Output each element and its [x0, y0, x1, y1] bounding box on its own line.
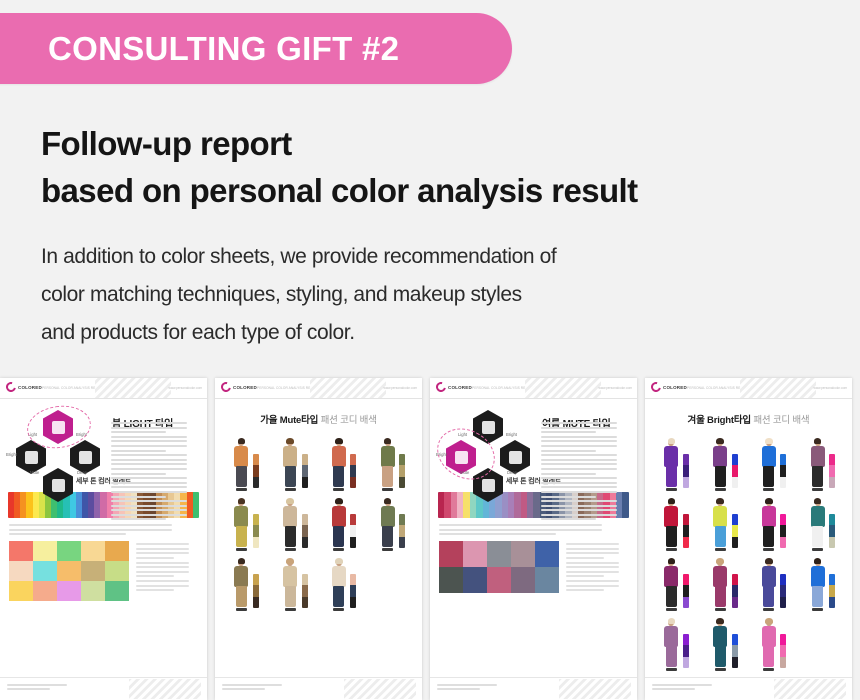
consulting-gift-banner: CONSULTING GIFT #2	[0, 13, 512, 84]
text-line	[136, 566, 189, 568]
outfit-chip	[683, 454, 689, 465]
figure-bottom-garment	[666, 466, 677, 487]
text-line	[111, 496, 166, 498]
text-line	[541, 473, 596, 475]
text-line	[111, 427, 187, 429]
outfit-color-chips	[780, 574, 786, 608]
text-line	[541, 509, 617, 511]
fashion-figure	[378, 439, 397, 491]
fashion-figure	[281, 559, 300, 611]
header-stripe-pattern-icon	[310, 378, 386, 398]
outfit-chip	[732, 645, 738, 656]
fashion-coordination-grid	[222, 435, 415, 611]
figure-top-garment	[664, 626, 678, 647]
footer-text	[652, 684, 722, 692]
card-title: 가을 Mute타입 패션 코디 배색	[215, 412, 422, 426]
figure-hair	[716, 438, 724, 444]
outfit-chip	[829, 477, 835, 488]
outfit-chip	[253, 465, 259, 476]
figure-bottom-garment	[812, 586, 823, 607]
hex-glyph	[482, 479, 495, 492]
text-line	[111, 468, 187, 470]
outfit-chip	[780, 537, 786, 548]
outfit-chip	[253, 477, 259, 488]
outfit-chip	[302, 454, 308, 465]
footer-stripe-pattern-icon	[559, 679, 631, 699]
figure-hair	[814, 498, 822, 504]
outfit-chip	[350, 597, 356, 608]
fashion-coordination-grid	[652, 435, 845, 671]
fashion-figure	[329, 499, 348, 551]
type-description-text	[111, 422, 199, 523]
fashion-figure-cell	[222, 495, 269, 551]
outfit-color-chips	[780, 454, 786, 488]
text-line	[566, 589, 604, 591]
text-line	[111, 500, 187, 502]
fashion-figure	[378, 499, 397, 551]
figure-bottom-garment	[666, 586, 677, 607]
footer-stripe-pattern-icon	[344, 679, 416, 699]
headline-line-2: based on personal color analysis result	[41, 167, 637, 214]
figure-bottom-garment	[812, 526, 823, 547]
fashion-figure	[232, 499, 251, 551]
text-line	[7, 684, 67, 686]
figure-top-garment	[332, 566, 346, 587]
fashion-figure	[808, 499, 827, 551]
outfit-chip	[732, 525, 738, 536]
figure-bottom-garment	[333, 586, 344, 607]
fashion-figure	[759, 499, 778, 551]
outfit-chip	[302, 514, 308, 525]
outfit-chip	[732, 634, 738, 645]
outfit-chip	[350, 514, 356, 525]
figure-hair	[286, 558, 294, 564]
fashion-figure-cell	[701, 435, 748, 491]
report-card-summer-mute[interactable]: COLOREDPERSONAL COLOR ANALYSIS REPORT FO…	[430, 378, 637, 700]
card-header: COLOREDPERSONAL COLOR ANALYSIS REPORT FO…	[215, 378, 422, 399]
figure-top-garment	[762, 506, 776, 527]
outfit-chip	[829, 514, 835, 525]
grid-swatch	[439, 567, 463, 593]
figure-top-garment	[664, 446, 678, 467]
grid-swatch	[511, 567, 535, 593]
figure-hair	[765, 558, 773, 564]
outfit-color-chips	[399, 454, 405, 488]
text-line	[111, 505, 187, 507]
outfit-chip	[399, 514, 405, 525]
figure-shoes	[666, 608, 677, 611]
figure-top-garment	[762, 566, 776, 587]
figure-shoes	[715, 548, 726, 551]
outfit-color-chips	[350, 454, 356, 488]
text-line	[541, 463, 617, 465]
outfit-chip	[780, 574, 786, 585]
figure-bottom-garment	[715, 586, 726, 607]
figure-bottom-garment	[236, 466, 247, 487]
hex-deep-icon	[43, 468, 73, 502]
text-line	[541, 459, 617, 461]
figure-bottom-garment	[715, 466, 726, 487]
hex-bright-icon	[70, 440, 100, 474]
outfit-color-chips	[683, 514, 689, 548]
text-line	[439, 533, 556, 535]
figure-top-garment	[713, 506, 727, 527]
fashion-figure	[759, 559, 778, 611]
footer-text	[437, 684, 507, 692]
fashion-figure-cell	[750, 495, 797, 551]
figure-bottom-garment	[715, 646, 726, 667]
outfit-color-chips	[253, 514, 259, 548]
logo-text: COLORED	[663, 385, 687, 390]
figure-hair	[716, 558, 724, 564]
report-card-gallery: COLOREDPERSONAL COLOR ANALYSIS REPORT FO…	[0, 378, 860, 700]
outfit-chip	[683, 537, 689, 548]
outfit-chip	[350, 454, 356, 465]
color-type-hexagon-diagram: LightBrightMuteDeepBright	[6, 404, 110, 512]
text-line	[136, 557, 174, 559]
figure-shoes	[715, 668, 726, 671]
outfit-chip	[350, 574, 356, 585]
outfit-color-chips	[732, 574, 738, 608]
text-line	[7, 688, 50, 690]
outfit-chip	[780, 585, 786, 596]
card-header: COLOREDPERSONAL COLOR ANALYSIS REPORT FO…	[0, 378, 207, 399]
figure-shoes	[812, 488, 823, 491]
figure-shoes	[763, 608, 774, 611]
outfit-color-chips	[683, 634, 689, 668]
swatch-grid-row	[9, 541, 198, 601]
grid-swatch	[9, 541, 33, 561]
card-footer	[645, 677, 852, 700]
figure-bottom-garment	[666, 526, 677, 547]
outfit-chip	[732, 454, 738, 465]
text-line	[566, 585, 619, 587]
outfit-color-chips	[829, 454, 835, 488]
header-stripe-pattern-icon	[95, 378, 171, 398]
fashion-figure-cell	[652, 555, 699, 611]
fashion-figure-cell	[750, 555, 797, 611]
figure-bottom-garment	[763, 586, 774, 607]
outfit-chip	[302, 585, 308, 596]
text-line	[541, 450, 596, 452]
outfit-chip	[253, 585, 259, 596]
figure-hair	[384, 498, 392, 504]
figure-bottom-garment	[236, 526, 247, 547]
text-line	[111, 473, 166, 475]
outfit-color-chips	[399, 514, 405, 548]
report-card-autumn-mute[interactable]: COLOREDPERSONAL COLOR ANALYSIS REPORT FO…	[215, 378, 422, 700]
outfit-color-chips	[302, 454, 308, 488]
outfit-chip	[780, 634, 786, 645]
text-line	[111, 459, 187, 461]
text-line	[541, 440, 617, 442]
text-line	[541, 518, 596, 520]
figure-top-garment	[283, 566, 297, 587]
text-line	[111, 509, 187, 511]
outfit-chip	[732, 465, 738, 476]
text-line	[136, 589, 174, 591]
hex-bright-icon	[500, 440, 530, 474]
outfit-color-chips	[683, 574, 689, 608]
text-line	[541, 505, 617, 507]
fashion-figure	[329, 559, 348, 611]
grid-swatch	[463, 567, 487, 593]
fashion-figure-cell	[652, 615, 699, 671]
fashion-figure-cell	[798, 495, 845, 551]
figure-shoes	[666, 548, 677, 551]
text-line	[111, 514, 187, 516]
outfit-chip	[683, 645, 689, 656]
text-line	[136, 580, 189, 582]
swatch-grid-description	[136, 541, 198, 601]
figure-shoes	[236, 548, 247, 551]
figure-hair	[668, 618, 676, 624]
fashion-figure-cell	[750, 435, 797, 491]
fashion-figure	[662, 619, 681, 671]
outfit-chip	[732, 657, 738, 668]
card-footer	[215, 677, 422, 700]
figure-top-garment	[811, 446, 825, 467]
fashion-figure	[711, 559, 730, 611]
figure-hair	[765, 438, 773, 444]
outfit-chip	[829, 454, 835, 465]
outfit-chip	[780, 477, 786, 488]
grid-swatch	[57, 561, 81, 581]
text-line	[9, 529, 172, 531]
text-line	[111, 440, 187, 442]
outfit-chip	[253, 454, 259, 465]
fashion-figure	[808, 559, 827, 611]
outfit-chip	[780, 454, 786, 465]
card-title: 겨울 Bright타입 패션 코디 배색	[645, 412, 852, 426]
brand-logo: COLORED	[436, 382, 472, 392]
figure-shoes	[285, 608, 296, 611]
grid-swatch	[9, 561, 33, 581]
fashion-figure-cell	[368, 435, 415, 491]
figure-shoes	[666, 668, 677, 671]
figure-bottom-garment	[666, 646, 677, 667]
grid-swatch	[487, 541, 511, 567]
outfit-chip	[683, 634, 689, 645]
text-line	[566, 552, 619, 554]
brand-logo: COLORED	[6, 382, 42, 392]
fashion-figure-cell	[222, 555, 269, 611]
figure-shoes	[333, 488, 344, 491]
text-line	[222, 684, 282, 686]
figure-shoes	[666, 488, 677, 491]
logo-text: COLORED	[18, 385, 42, 390]
fashion-figure-cell	[271, 555, 318, 611]
outfit-color-chips	[780, 514, 786, 548]
text-line	[136, 548, 189, 550]
outfit-color-chips	[302, 514, 308, 548]
fashion-figure-cell	[222, 435, 269, 491]
figure-top-garment	[811, 566, 825, 587]
figure-bottom-garment	[763, 526, 774, 547]
figure-hair	[335, 438, 343, 444]
fashion-figure	[711, 439, 730, 491]
footer-stripe-pattern-icon	[129, 679, 201, 699]
figure-hair	[384, 438, 392, 444]
text-line	[566, 575, 604, 577]
outfit-chip	[780, 645, 786, 656]
text-line	[111, 454, 187, 456]
footer-text	[222, 684, 292, 692]
outfit-chip	[253, 525, 259, 536]
grid-swatch	[535, 567, 559, 593]
figure-shoes	[763, 668, 774, 671]
figure-top-garment	[283, 446, 297, 467]
header-site-url: www.personalcolor.com	[384, 386, 417, 390]
figure-hair	[668, 438, 676, 444]
figure-shoes	[285, 548, 296, 551]
outfit-chip	[399, 525, 405, 536]
outfit-chip	[253, 514, 259, 525]
label-bright: Bright	[506, 432, 517, 437]
fashion-figure	[662, 559, 681, 611]
figure-shoes	[236, 608, 247, 611]
fashion-figure-cell	[652, 495, 699, 551]
headline-line-1: Follow-up report	[41, 125, 292, 162]
figure-shoes	[715, 488, 726, 491]
figure-shoes	[333, 608, 344, 611]
fashion-figure-cell	[320, 495, 367, 551]
text-line	[541, 491, 617, 493]
banner-label: CONSULTING GIFT #2	[48, 13, 399, 84]
report-card-winter-bright[interactable]: COLOREDPERSONAL COLOR ANALYSIS REPORT FO…	[645, 378, 852, 700]
text-line	[439, 524, 602, 526]
logo-text: COLORED	[233, 385, 257, 390]
text-line	[136, 571, 189, 573]
outfit-chip	[829, 537, 835, 548]
fashion-figure	[281, 439, 300, 491]
figure-shoes	[715, 608, 726, 611]
text-line	[652, 688, 695, 690]
text-line	[111, 445, 187, 447]
brand-logo: COLORED	[651, 382, 687, 392]
fashion-figure	[759, 439, 778, 491]
outfit-chip	[399, 465, 405, 476]
header-stripe-pattern-icon	[525, 378, 601, 398]
text-line	[136, 543, 189, 545]
text-line	[437, 688, 480, 690]
outfit-color-chips	[732, 514, 738, 548]
grid-swatch	[439, 541, 463, 567]
text-line	[111, 450, 166, 452]
outfit-chip	[780, 514, 786, 525]
outfit-color-chips	[302, 574, 308, 608]
text-line	[541, 427, 617, 429]
label-side: Bright	[6, 452, 17, 457]
outfit-chip	[732, 574, 738, 585]
outfit-chip	[829, 465, 835, 476]
outfit-chip	[732, 537, 738, 548]
card-header: COLOREDPERSONAL COLOR ANALYSIS REPORT FO…	[430, 378, 637, 399]
outfit-chip	[302, 465, 308, 476]
footer-text	[7, 684, 77, 692]
text-line	[111, 431, 166, 433]
outfit-chip	[399, 537, 405, 548]
outfit-chip	[829, 597, 835, 608]
figure-top-garment	[713, 626, 727, 647]
figure-hair	[668, 558, 676, 564]
outfit-chip	[829, 574, 835, 585]
text-line	[9, 524, 172, 526]
figure-bottom-garment	[763, 646, 774, 667]
outfit-chip	[829, 525, 835, 536]
outfit-color-chips	[732, 454, 738, 488]
figure-bottom-garment	[715, 526, 726, 547]
grid-swatch	[33, 561, 57, 581]
fashion-figure	[711, 619, 730, 671]
fashion-figure	[808, 439, 827, 491]
figure-top-garment	[811, 506, 825, 527]
grid-swatch	[487, 567, 511, 593]
text-line	[541, 468, 617, 470]
grid-swatch	[535, 541, 559, 567]
fashion-figure-cell	[320, 555, 367, 611]
outfit-chip	[350, 537, 356, 548]
text-line	[111, 518, 166, 520]
outfit-chip	[350, 477, 356, 488]
text-line	[136, 585, 189, 587]
fashion-figure	[662, 499, 681, 551]
outfit-chip	[683, 465, 689, 476]
fashion-figure	[232, 559, 251, 611]
outfit-chip	[302, 537, 308, 548]
fashion-figure	[662, 439, 681, 491]
outfit-chip	[683, 597, 689, 608]
figure-bottom-garment	[812, 466, 823, 487]
footer-stripe-pattern-icon	[774, 679, 846, 699]
outfit-color-chips	[780, 634, 786, 668]
hex-glyph	[482, 421, 495, 434]
text-line	[541, 445, 617, 447]
figure-top-garment	[664, 566, 678, 587]
text-line	[136, 562, 189, 564]
fashion-figure-cell	[750, 615, 797, 671]
outfit-chip	[683, 574, 689, 585]
color-type-hexagon-diagram: LightBrightMuteDeepBright	[436, 404, 540, 512]
header-site-url: www.personalcolor.com	[169, 386, 202, 390]
report-card-spring-light[interactable]: COLOREDPERSONAL COLOR ANALYSIS REPORT FO…	[0, 378, 207, 700]
outfit-color-chips	[253, 574, 259, 608]
card-footer	[430, 677, 637, 700]
text-line	[541, 477, 617, 479]
figure-top-garment	[234, 446, 248, 467]
outfit-chip	[829, 585, 835, 596]
figure-shoes	[763, 548, 774, 551]
text-line	[111, 422, 187, 424]
text-line	[111, 463, 187, 465]
figure-shoes	[812, 548, 823, 551]
text-line	[111, 491, 187, 493]
text-line	[541, 482, 617, 484]
text-line	[541, 422, 617, 424]
figure-top-garment	[664, 506, 678, 527]
figure-bottom-garment	[285, 586, 296, 607]
label-mute: Mute	[30, 470, 39, 475]
text-line	[439, 529, 602, 531]
figure-bottom-garment	[285, 526, 296, 547]
figure-hair	[238, 498, 246, 504]
outfit-chip	[683, 525, 689, 536]
fashion-figure-cell	[798, 555, 845, 611]
figure-top-garment	[762, 446, 776, 467]
header-stripe-pattern-icon	[740, 378, 816, 398]
grid-swatch	[105, 561, 129, 581]
figure-hair	[286, 498, 294, 504]
